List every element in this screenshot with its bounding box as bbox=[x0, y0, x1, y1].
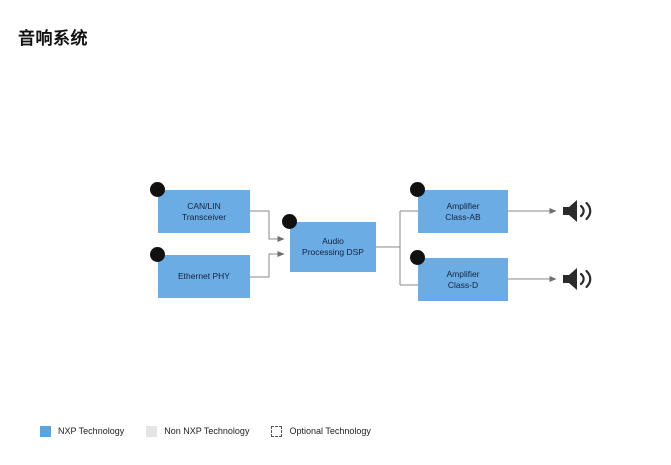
port-dot-amplifier-class-ab bbox=[410, 182, 425, 197]
node-label: Amplifier Class-AB bbox=[441, 201, 484, 222]
legend: NXP Technology Non NXP Technology Option… bbox=[40, 426, 371, 437]
legend-item-nxp: NXP Technology bbox=[40, 426, 124, 437]
legend-item-optional: Optional Technology bbox=[271, 426, 370, 437]
speaker-icon bbox=[561, 265, 595, 293]
legend-label: Optional Technology bbox=[289, 427, 370, 436]
legend-label: NXP Technology bbox=[58, 427, 124, 436]
port-dot-can-lin-transceiver bbox=[150, 182, 165, 197]
legend-swatch-non-nxp-icon bbox=[146, 426, 157, 437]
node-amplifier-class-ab[interactable]: Amplifier Class-AB bbox=[418, 190, 508, 233]
node-audio-processing-dsp[interactable]: Audio Processing DSP bbox=[290, 222, 376, 272]
block-diagram: CAN/LIN Transceiver Ethernet PHY Audio P… bbox=[0, 0, 671, 465]
node-amplifier-class-d[interactable]: Amplifier Class-D bbox=[418, 258, 508, 301]
node-ethernet-phy[interactable]: Ethernet PHY bbox=[158, 255, 250, 298]
connector-ethernet-to-dsp bbox=[250, 254, 284, 277]
port-dot-ethernet-phy bbox=[150, 247, 165, 262]
port-dot-audio-processing-dsp bbox=[282, 214, 297, 229]
speaker-icon bbox=[561, 197, 595, 225]
legend-swatch-optional-icon bbox=[271, 426, 282, 437]
node-label: Ethernet PHY bbox=[174, 271, 234, 282]
node-label: Audio Processing DSP bbox=[298, 236, 368, 257]
node-label: Amplifier Class-D bbox=[442, 269, 483, 290]
port-dot-amplifier-class-d bbox=[410, 250, 425, 265]
connector-canlin-to-dsp bbox=[250, 211, 284, 239]
legend-swatch-nxp-icon bbox=[40, 426, 51, 437]
legend-label: Non NXP Technology bbox=[164, 427, 249, 436]
node-label: CAN/LIN Transceiver bbox=[178, 201, 230, 222]
legend-item-non-nxp: Non NXP Technology bbox=[146, 426, 249, 437]
node-can-lin-transceiver[interactable]: CAN/LIN Transceiver bbox=[158, 190, 250, 233]
